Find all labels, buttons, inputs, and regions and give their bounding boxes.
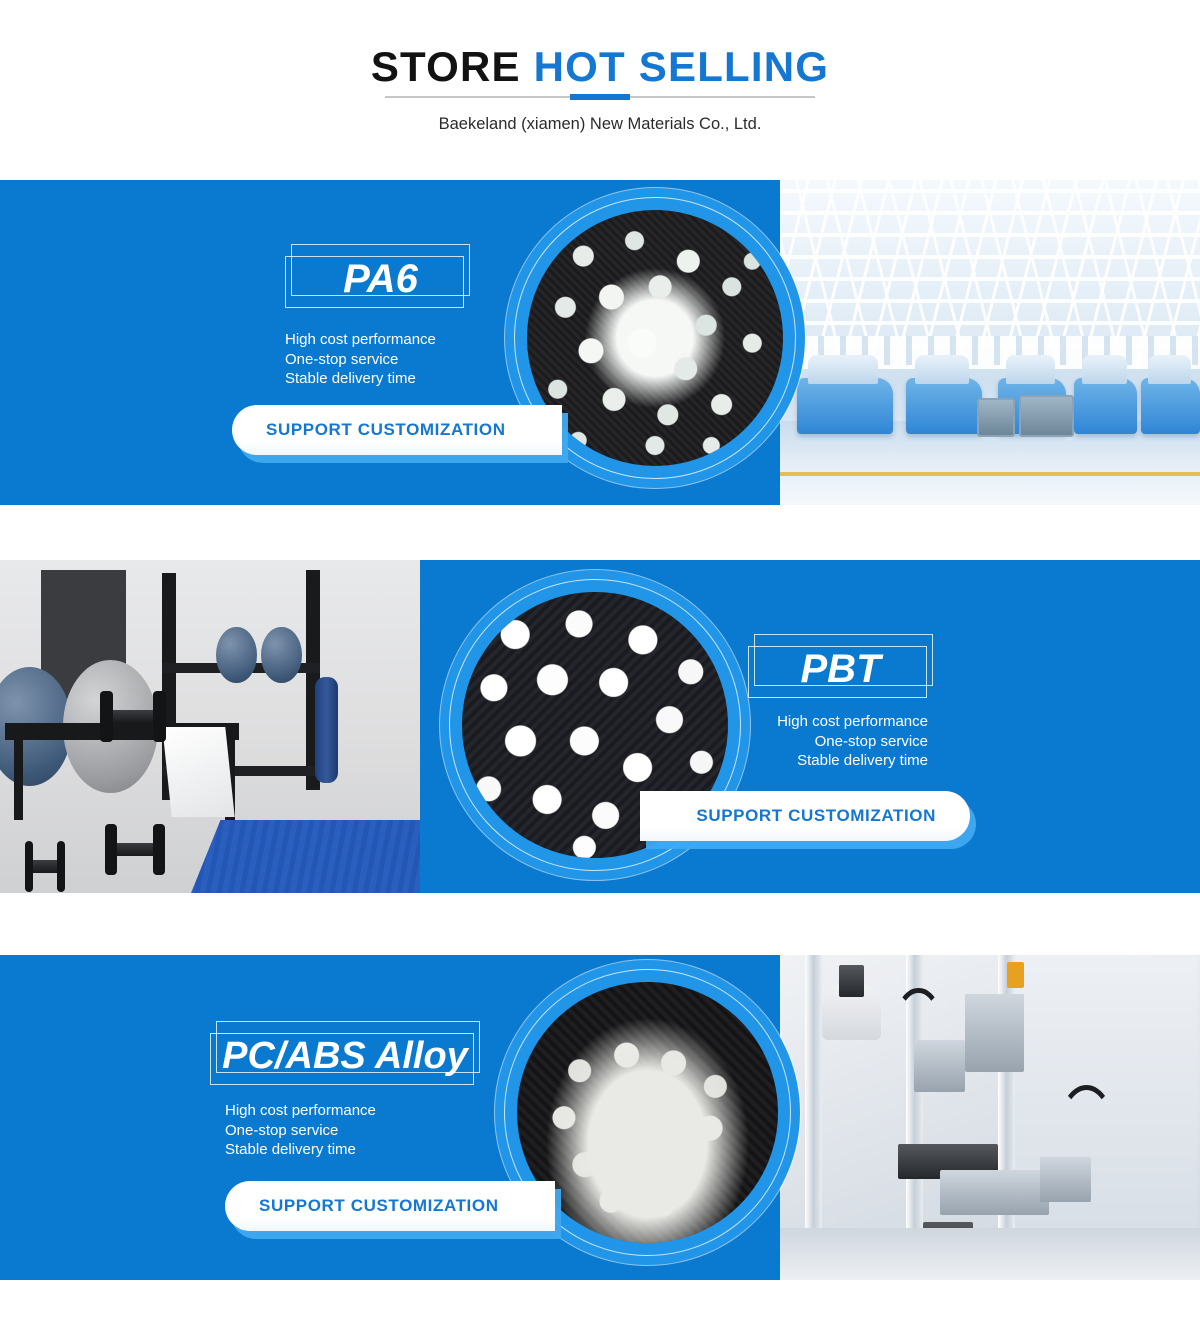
page-bottom-padding bbox=[0, 1280, 1200, 1343]
pbt-pill-body[interactable]: SUPPORT CUSTOMIZATION bbox=[640, 791, 970, 841]
pa6-pill-body[interactable]: SUPPORT CUSTOMIZATION bbox=[232, 405, 562, 455]
pcabs-pill-body[interactable]: SUPPORT CUSTOMIZATION bbox=[225, 1181, 555, 1231]
company-name: Baekeland (xiamen) New Materials Co., Lt… bbox=[0, 112, 1200, 136]
pa6-bullet-3: Stable delivery time bbox=[285, 369, 436, 389]
pa6-support-customization-pill[interactable]: SUPPORT CUSTOMIZATION bbox=[232, 405, 562, 455]
pbt-bullet-1: High cost performance bbox=[777, 712, 928, 732]
pa6-cta-label: SUPPORT CUSTOMIZATION bbox=[232, 420, 506, 440]
pa6-bullet-2: One-stop service bbox=[285, 350, 436, 370]
pbt-bullet-3: Stable delivery time bbox=[777, 751, 928, 771]
page-title-blue: HOT SELLING bbox=[534, 43, 830, 90]
store-hot-selling-page: STORE HOT SELLING Baekeland (xiamen) New… bbox=[0, 0, 1200, 1343]
pa6-bullet-1: High cost performance bbox=[285, 330, 436, 350]
header-divider-accent bbox=[570, 94, 630, 100]
banner-pbt[interactable]: PBT High cost performance One-stop servi… bbox=[0, 560, 1200, 893]
pbt-bullet-list: High cost performance One-stop service S… bbox=[777, 712, 928, 771]
pcabs-support-customization-pill[interactable]: SUPPORT CUSTOMIZATION bbox=[225, 1181, 555, 1231]
pcabs-bullet-list: High cost performance One-stop service S… bbox=[225, 1101, 376, 1160]
pbt-support-customization-pill[interactable]: SUPPORT CUSTOMIZATION bbox=[640, 791, 970, 841]
pbt-bullet-2: One-stop service bbox=[777, 732, 928, 752]
pcabs-bullet-2: One-stop service bbox=[225, 1121, 376, 1141]
pcabs-title: PC/ABS Alloy bbox=[210, 1027, 480, 1085]
page-title-dark: STORE bbox=[371, 43, 521, 90]
pcabs-title-box: PC/ABS Alloy bbox=[210, 1027, 480, 1085]
pa6-title-box: PA6 bbox=[285, 250, 470, 308]
pbt-cta-label: SUPPORT CUSTOMIZATION bbox=[696, 806, 970, 826]
page-header: STORE HOT SELLING Baekeland (xiamen) New… bbox=[0, 0, 1200, 175]
industrial-automation-machinery-photo bbox=[780, 955, 1200, 1280]
pcabs-bullet-3: Stable delivery time bbox=[225, 1140, 376, 1160]
gym-equipment-photo bbox=[0, 560, 450, 893]
pcabs-bullet-1: High cost performance bbox=[225, 1101, 376, 1121]
automotive-assembly-line-photo bbox=[780, 180, 1200, 505]
page-title: STORE HOT SELLING bbox=[0, 42, 1200, 92]
banner-pcabs[interactable]: PC/ABS Alloy High cost performance One-s… bbox=[0, 955, 1200, 1280]
banner-pa6[interactable]: PA6 High cost performance One-stop servi… bbox=[0, 180, 1200, 505]
pbt-title-box: PBT bbox=[748, 640, 933, 698]
pa6-title: PA6 bbox=[285, 250, 470, 308]
pa6-bullet-list: High cost performance One-stop service S… bbox=[285, 330, 436, 389]
pcabs-cta-label: SUPPORT CUSTOMIZATION bbox=[225, 1196, 499, 1216]
pbt-title: PBT bbox=[748, 640, 933, 698]
